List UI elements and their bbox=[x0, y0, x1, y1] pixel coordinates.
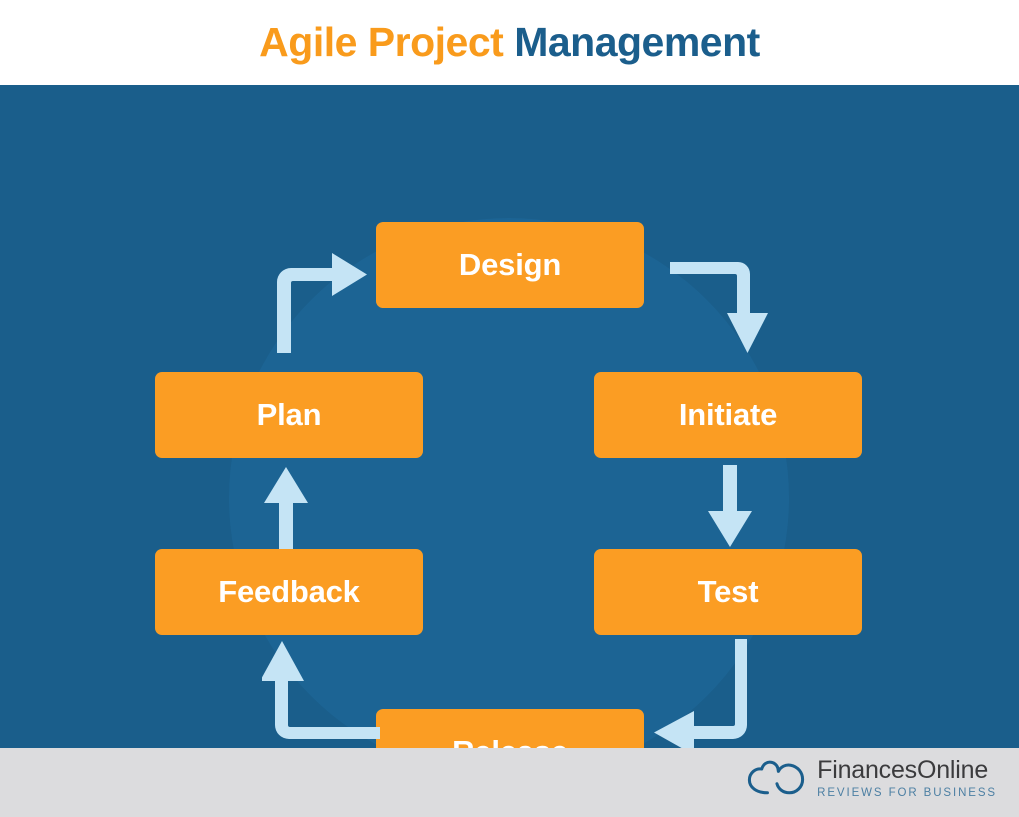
page-title: Agile Project Management bbox=[259, 19, 760, 66]
header-bar: Agile Project Management bbox=[0, 0, 1019, 85]
brand-logo[interactable]: FinancesOnline REVIEWS FOR BUSINESS bbox=[746, 758, 997, 800]
process-node-release[interactable]: Release bbox=[376, 709, 644, 748]
process-node-plan-label: Plan bbox=[257, 397, 322, 433]
footer-bar: FinancesOnline REVIEWS FOR BUSINESS bbox=[0, 748, 1019, 817]
brand-tagline: REVIEWS FOR BUSINESS bbox=[817, 788, 997, 800]
process-node-test-label: Test bbox=[698, 574, 759, 610]
brand-name: FinancesOnline bbox=[817, 758, 997, 783]
arrow-initiate-to-test-icon bbox=[705, 465, 755, 549]
process-node-release-label: Release bbox=[452, 734, 568, 748]
process-node-plan[interactable]: Plan bbox=[155, 372, 423, 458]
process-node-feedback-label: Feedback bbox=[218, 574, 359, 610]
process-node-feedback[interactable]: Feedback bbox=[155, 549, 423, 635]
cloud-infinity-icon bbox=[746, 760, 806, 798]
infographic-canvas: Agile Project Management Design Initiate… bbox=[0, 0, 1019, 817]
process-node-test[interactable]: Test bbox=[594, 549, 862, 635]
arrow-test-to-release-icon bbox=[640, 637, 760, 748]
process-node-design[interactable]: Design bbox=[376, 222, 644, 308]
page-title-accent: Agile Project bbox=[259, 19, 503, 65]
arrow-release-to-feedback-icon bbox=[262, 637, 382, 748]
arrow-plan-to-design-icon bbox=[264, 250, 369, 355]
process-node-design-label: Design bbox=[459, 247, 561, 283]
process-node-initiate-label: Initiate bbox=[679, 397, 777, 433]
process-node-initiate[interactable]: Initiate bbox=[594, 372, 862, 458]
diagram-stage: Design Initiate Test Release Feedback Pl… bbox=[0, 85, 1019, 748]
page-title-primary: Management bbox=[514, 19, 760, 65]
brand-logo-text: FinancesOnline REVIEWS FOR BUSINESS bbox=[817, 758, 997, 800]
arrow-design-to-initiate-icon bbox=[668, 250, 768, 355]
arrow-feedback-to-plan-icon bbox=[261, 465, 311, 549]
